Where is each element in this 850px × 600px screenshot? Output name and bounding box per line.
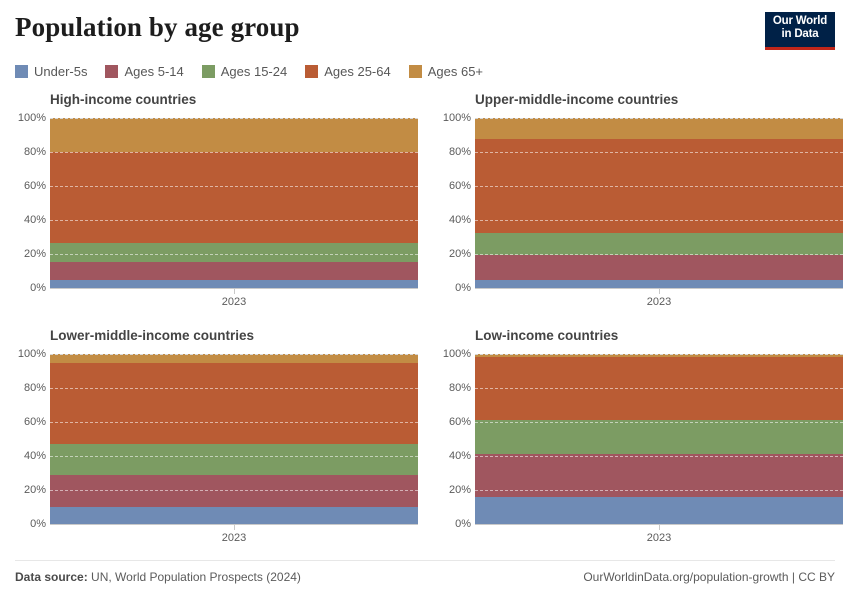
panel-title: Lower-middle-income countries (50, 328, 254, 343)
logo-line-2: in Data (765, 28, 835, 41)
legend-item-label: Ages 65+ (428, 64, 483, 79)
plot-wrapper: 0%20%40%60%80%100%2023 (0, 354, 425, 560)
x-axis-tick-label: 2023 (647, 296, 671, 308)
footer-permalink[interactable]: OurWorldinData.org/population-growth | C… (583, 570, 835, 584)
y-axis-tick-label: 60% (0, 416, 46, 428)
stacked-band[interactable] (50, 118, 418, 152)
chart-panel: High-income countries0%20%40%60%80%100%2… (0, 88, 425, 324)
plot-area (50, 118, 418, 288)
chart-footer: Data source: UN, World Population Prospe… (0, 560, 850, 600)
chart-legend: Under-5sAges 5-14Ages 15-24Ages 25-64Age… (15, 64, 483, 79)
y-axis-tick-label: 40% (0, 450, 46, 462)
y-axis-tick-label: 0% (0, 518, 46, 530)
panel-title: Low-income countries (475, 328, 618, 343)
stacked-band[interactable] (50, 475, 418, 507)
legend-item-label: Ages 25-64 (324, 64, 391, 79)
y-axis-tick-label: 100% (425, 112, 471, 124)
y-axis: 0%20%40%60%80%100% (0, 354, 46, 524)
legend-item[interactable]: Under-5s (15, 64, 87, 79)
x-axis-tick-label: 2023 (222, 532, 246, 544)
legend-item-label: Ages 15-24 (221, 64, 288, 79)
data-source-label: Data source: (15, 570, 88, 584)
x-axis-tick (234, 289, 235, 294)
y-axis: 0%20%40%60%80%100% (425, 118, 471, 288)
plot-wrapper: 0%20%40%60%80%100%2023 (425, 118, 850, 324)
legend-swatch-icon (105, 65, 118, 78)
panel-title: Upper-middle-income countries (475, 92, 678, 107)
y-axis-tick-label: 60% (0, 180, 46, 192)
chart-panel-grid: High-income countries0%20%40%60%80%100%2… (0, 88, 850, 560)
y-axis-tick-label: 40% (425, 214, 471, 226)
plot-area (475, 118, 843, 288)
plot-wrapper: 0%20%40%60%80%100%2023 (0, 118, 425, 324)
data-source-note: Data source: UN, World Population Prospe… (15, 570, 301, 584)
footer-divider (15, 560, 835, 561)
plot-wrapper: 0%20%40%60%80%100%2023 (425, 354, 850, 560)
stacked-band[interactable] (475, 357, 843, 421)
chart-panel: Low-income countries0%20%40%60%80%100%20… (425, 324, 850, 560)
y-axis-tick-label: 80% (0, 146, 46, 158)
page-title: Population by age group (15, 12, 300, 43)
x-axis-tick (659, 525, 660, 530)
y-axis: 0%20%40%60%80%100% (425, 354, 471, 524)
legend-item[interactable]: Ages 5-14 (105, 64, 183, 79)
y-axis: 0%20%40%60%80%100% (0, 118, 46, 288)
legend-item-label: Ages 5-14 (124, 64, 183, 79)
data-source-value: UN, World Population Prospects (2024) (88, 570, 301, 584)
y-axis-tick-label: 80% (425, 146, 471, 158)
x-axis-tick-label: 2023 (222, 296, 246, 308)
legend-item-label: Under-5s (34, 64, 87, 79)
chart-panel: Upper-middle-income countries0%20%40%60%… (425, 88, 850, 324)
y-axis-tick-label: 20% (425, 248, 471, 260)
stacked-band[interactable] (50, 262, 418, 280)
legend-item[interactable]: Ages 65+ (409, 64, 483, 79)
logo-line-1: Our World (765, 15, 835, 28)
y-axis-tick-label: 100% (0, 112, 46, 124)
stacked-band[interactable] (50, 354, 418, 363)
y-axis-tick-label: 100% (425, 348, 471, 360)
stacked-band[interactable] (475, 454, 843, 497)
legend-item[interactable]: Ages 15-24 (202, 64, 288, 79)
stacked-band[interactable] (475, 118, 843, 139)
chart-panel: Lower-middle-income countries0%20%40%60%… (0, 324, 425, 560)
panel-title: High-income countries (50, 92, 196, 107)
y-axis-tick-label: 100% (0, 348, 46, 360)
stacked-band[interactable] (50, 243, 418, 262)
y-axis-tick-label: 40% (425, 450, 471, 462)
stacked-band[interactable] (475, 280, 843, 289)
stacked-band[interactable] (475, 233, 843, 255)
stacked-band[interactable] (50, 152, 418, 243)
stacked-band[interactable] (50, 280, 418, 288)
our-world-in-data-logo[interactable]: Our World in Data (765, 12, 835, 50)
plot-area (50, 354, 418, 524)
legend-swatch-icon (202, 65, 215, 78)
stacked-band[interactable] (475, 255, 843, 280)
y-axis-tick-label: 40% (0, 214, 46, 226)
y-axis-tick-label: 20% (0, 248, 46, 260)
stacked-band[interactable] (50, 507, 418, 524)
y-axis-tick-label: 60% (425, 180, 471, 192)
y-axis-tick-label: 80% (0, 382, 46, 394)
y-axis-tick-label: 0% (425, 518, 471, 530)
y-axis-tick-label: 60% (425, 416, 471, 428)
legend-item[interactable]: Ages 25-64 (305, 64, 391, 79)
y-axis-tick-label: 80% (425, 382, 471, 394)
stacked-band[interactable] (475, 497, 843, 524)
y-axis-tick-label: 20% (0, 484, 46, 496)
stacked-band[interactable] (50, 363, 418, 445)
y-axis-tick-label: 0% (0, 282, 46, 294)
legend-swatch-icon (15, 65, 28, 78)
stacked-band[interactable] (475, 354, 843, 357)
plot-area (475, 354, 843, 524)
x-axis-tick (234, 525, 235, 530)
stacked-band[interactable] (475, 139, 843, 233)
legend-swatch-icon (409, 65, 422, 78)
y-axis-tick-label: 0% (425, 282, 471, 294)
x-axis-tick-label: 2023 (647, 532, 671, 544)
stacked-band[interactable] (475, 420, 843, 454)
chart-header: Population by age group Our World in Dat… (0, 0, 850, 88)
legend-swatch-icon (305, 65, 318, 78)
x-axis-tick (659, 289, 660, 294)
stacked-band[interactable] (50, 444, 418, 475)
y-axis-tick-label: 20% (425, 484, 471, 496)
